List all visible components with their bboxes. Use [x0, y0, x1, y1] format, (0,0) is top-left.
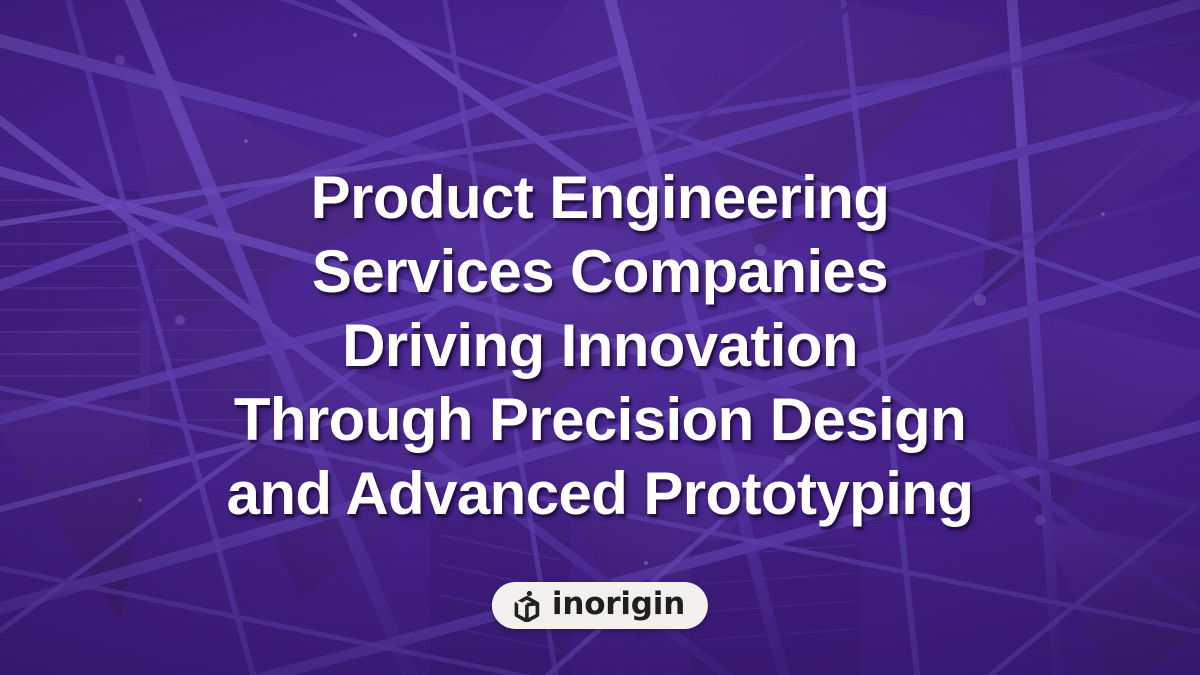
headline-line-2: Services Companies	[40, 235, 1160, 309]
headline-line-1: Product Engineering	[40, 161, 1160, 235]
headline-line-3: Driving Innovation	[40, 309, 1160, 383]
brand-wordmark: inorigin	[552, 589, 685, 620]
brand-logo[interactable]: inorigin	[492, 582, 708, 629]
headline-line-4: Through Precision Design	[40, 383, 1160, 457]
promo-banner: Product Engineering Services Companies D…	[0, 0, 1200, 675]
hexagon-cube-icon	[511, 590, 543, 622]
headline-line-5: and Advanced Prototyping	[40, 457, 1160, 531]
headline: Product Engineering Services Companies D…	[0, 161, 1200, 531]
